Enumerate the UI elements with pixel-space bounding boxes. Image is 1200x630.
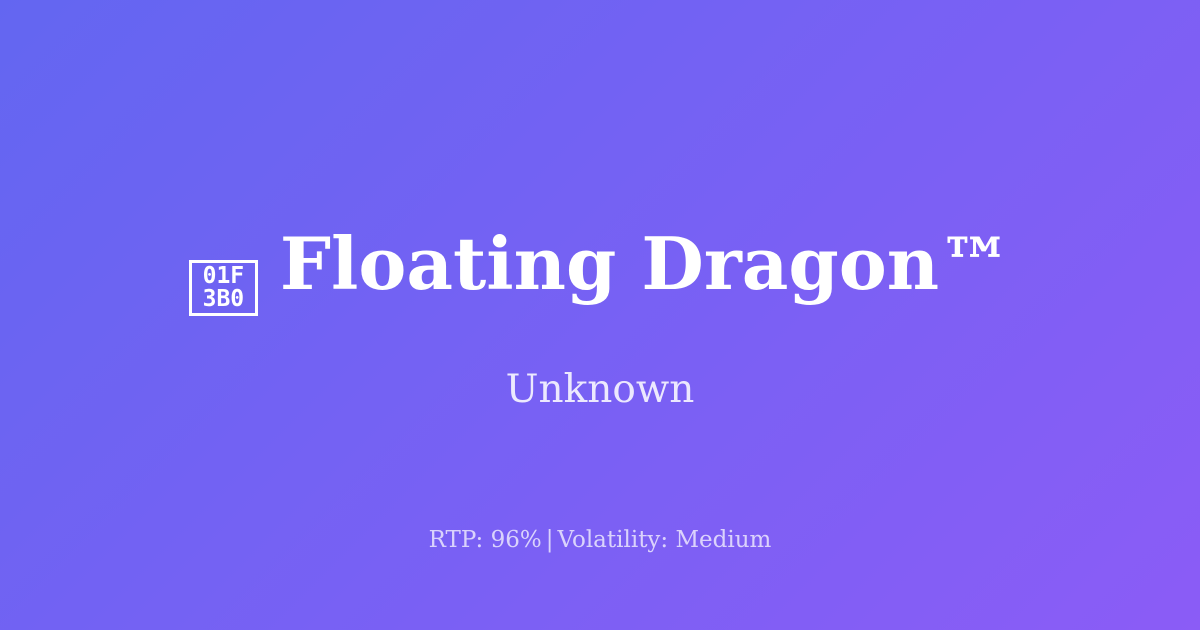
title-row: 01F 3B0 Floating Dragon ™ <box>189 228 1011 322</box>
provider-subtitle: Unknown <box>506 370 695 409</box>
tofu-hex-row-bottom: 3B0 <box>203 288 245 311</box>
tofu-hex-row-top: 01F <box>203 265 245 288</box>
game-stats-line: RTP: 96%|Volatility: Medium <box>0 529 1200 552</box>
rtp-stat: RTP: 96% <box>429 527 542 553</box>
stat-separator: | <box>542 527 558 553</box>
slot-machine-icon: 01F 3B0 <box>189 260 258 316</box>
og-card: 01F 3B0 Floating Dragon ™ Unknown RTP: 9… <box>0 0 1200 630</box>
page-title: Floating Dragon <box>280 228 939 300</box>
trademark-symbol: ™ <box>939 228 1011 300</box>
volatility-stat: Volatility: Medium <box>557 527 771 553</box>
hero-block: 01F 3B0 Floating Dragon ™ Unknown <box>0 228 1200 409</box>
